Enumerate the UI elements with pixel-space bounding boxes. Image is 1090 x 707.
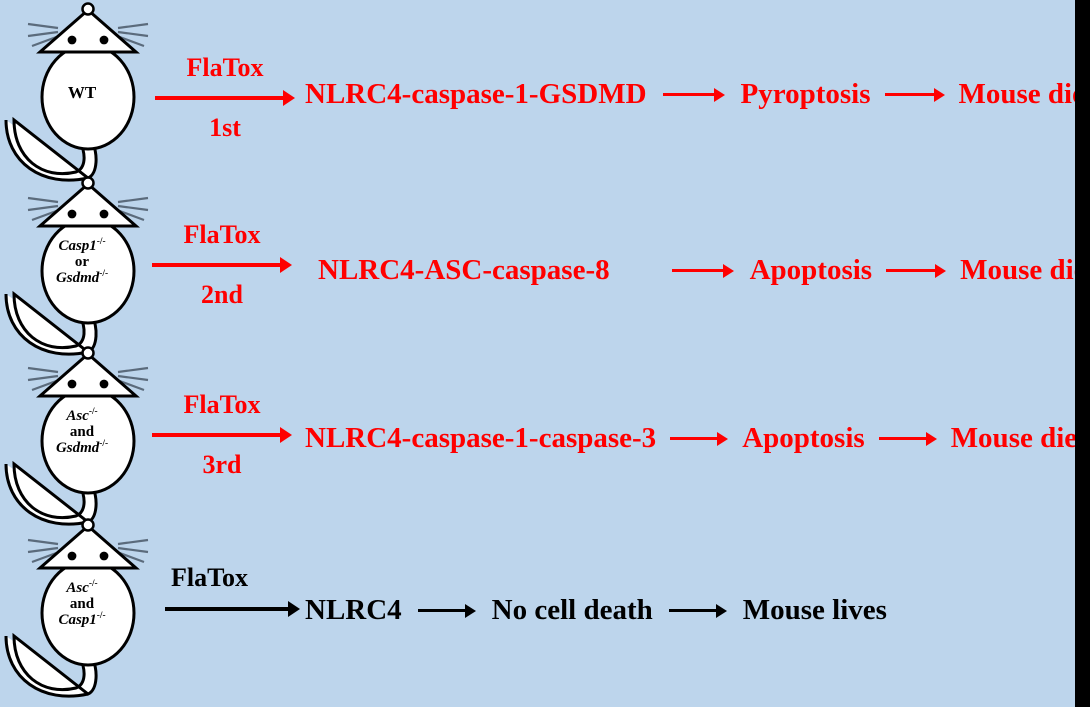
pathway-stage: Apoptosis	[750, 256, 873, 285]
pathway-stage: Pyroptosis	[741, 80, 871, 109]
treatment-arrow-line	[152, 257, 292, 273]
treatment-arrow-row-2: FlaTox 2nd	[152, 222, 292, 308]
pathway-arrow	[670, 432, 728, 446]
arrow-head	[723, 264, 734, 278]
treatment-label-bottom: 3rd	[152, 452, 292, 478]
treatment-label-top: FlaTox	[155, 55, 295, 81]
arrow-head	[934, 88, 945, 102]
arrow-head	[716, 604, 727, 618]
pathway-arrow	[418, 604, 476, 618]
mouse-icon-row-3: Asc-/- and Gsdmd-/-	[2, 346, 162, 546]
arrow-shaft	[152, 263, 282, 267]
arrow-head	[935, 264, 946, 278]
right-edge-strip	[1075, 0, 1090, 707]
pathway-row-1: NLRC4-caspase-1-GSDMD Pyroptosis Mouse d…	[305, 80, 1090, 109]
treatment-label-top: FlaTox	[152, 392, 292, 418]
arrow-shaft	[879, 437, 928, 440]
arrow-head	[288, 601, 300, 617]
treatment-arrow-row-1: FlaTox 1st	[155, 55, 295, 141]
pathway-arrow	[669, 604, 727, 618]
pathway-stage: NLRC4-ASC-caspase-8	[318, 256, 610, 285]
treatment-label-bottom: 1st	[155, 115, 295, 141]
mouse-icon-row-1: WT	[2, 2, 162, 202]
pathway-stage: NLRC4-caspase-1-GSDMD	[305, 80, 647, 109]
treatment-arrow-row-4: FlaTox	[165, 565, 300, 617]
mouse-glyph	[2, 518, 162, 707]
pathway-stage: No cell death	[492, 596, 653, 625]
arrow-shaft	[669, 609, 718, 612]
treatment-arrow-line	[152, 427, 292, 443]
arrow-shaft	[670, 437, 719, 440]
pathway-stage: Mouse lives	[743, 596, 887, 625]
arrow-head	[714, 88, 725, 102]
mouse-glyph	[2, 2, 162, 202]
pathway-arrow	[663, 88, 725, 102]
pathway-row-2: NLRC4-ASC-caspase-8 Apoptosis Mouse dies	[318, 256, 1090, 285]
arrow-shaft	[886, 269, 937, 272]
arrow-head	[283, 90, 295, 106]
arrow-shaft	[672, 269, 725, 272]
mouse-glyph	[2, 346, 162, 546]
treatment-label-bottom: 2nd	[152, 282, 292, 308]
pathway-stage: Mouse dies	[960, 256, 1090, 285]
pathway-stage: NLRC4-caspase-1-caspase-3	[305, 424, 656, 453]
arrow-head	[926, 432, 937, 446]
arrow-shaft	[155, 96, 285, 100]
pathway-arrow	[672, 264, 734, 278]
pathway-arrow	[885, 88, 945, 102]
arrow-shaft	[418, 609, 467, 612]
pathway-row-3: NLRC4-caspase-1-caspase-3 Apoptosis Mous…	[305, 424, 1088, 453]
treatment-label-top: FlaTox	[152, 222, 292, 248]
arrow-shaft	[885, 93, 936, 96]
pathway-arrow	[879, 432, 937, 446]
treatment-arrow-row-3: FlaTox 3rd	[152, 392, 292, 478]
pathway-stage: Mouse dies	[951, 424, 1089, 453]
treatment-label-top: FlaTox	[165, 565, 300, 591]
figure-canvas: WT Casp1-/- or Gsdmd-/-	[0, 0, 1090, 707]
pathway-stage: Mouse dies	[959, 80, 1090, 109]
arrow-shaft	[152, 433, 282, 437]
treatment-arrow-line	[155, 90, 295, 106]
arrow-shaft	[165, 607, 290, 611]
pathway-row-4: NLRC4 No cell death Mouse lives	[305, 596, 887, 625]
arrow-head	[280, 257, 292, 273]
arrow-shaft	[663, 93, 716, 96]
pathway-stage: NLRC4	[305, 596, 402, 625]
mouse-icon-row-4: Asc-/- and Casp1-/-	[2, 518, 162, 707]
pathway-arrow	[886, 264, 946, 278]
treatment-arrow-line	[165, 601, 300, 617]
pathway-stage: Apoptosis	[742, 424, 865, 453]
arrow-head	[717, 432, 728, 446]
arrow-head	[465, 604, 476, 618]
arrow-head	[280, 427, 292, 443]
